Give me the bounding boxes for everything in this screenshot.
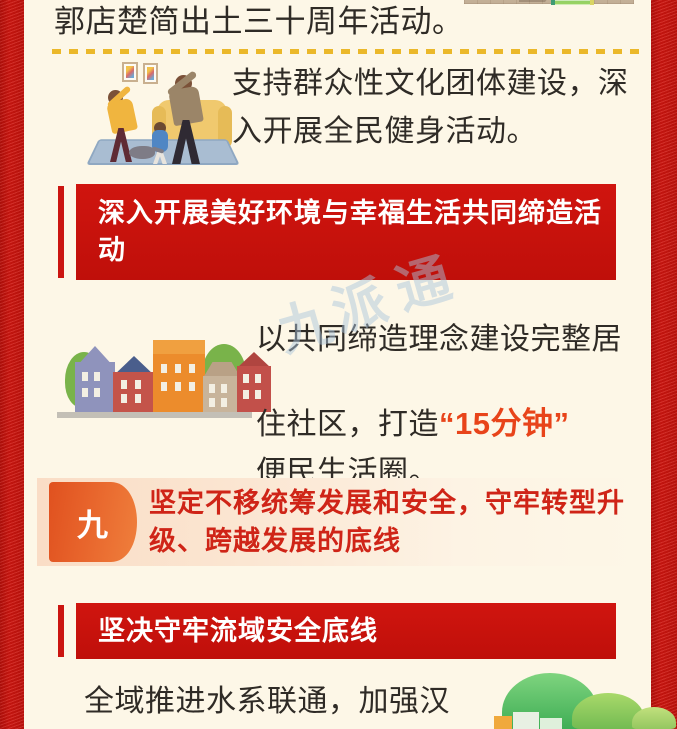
street-ground-icon [57, 412, 252, 418]
right-red-border [651, 0, 677, 729]
red-heading-banner-1: 深入开展美好环境与幸福生活共同缔造活动 [58, 184, 616, 280]
paragraph-community-line1: 以共同缔造理念建设完整居 [256, 316, 656, 364]
dotted-divider [52, 49, 641, 54]
green-stairs-icon [551, 0, 594, 5]
house-icon [153, 340, 205, 412]
section-nine-band: 九 坚定不移统筹发展和安全，守牢转型升级、跨越发展的底线 [37, 478, 638, 566]
community-line2-prefix: 住社区，打造 [256, 408, 439, 441]
left-red-border [0, 0, 24, 729]
picture-frame-icon [122, 62, 138, 82]
red-heading-banner-2: 坚决守牢流域安全底线 [58, 603, 616, 659]
house-icon [113, 356, 155, 412]
family-exercise-illustration [87, 58, 239, 166]
house-icon [203, 362, 241, 412]
paragraph-tail-text: 郭店楚简出土三十周年活动。 [54, 2, 464, 42]
townhouses-illustration [57, 330, 252, 420]
paragraph-mass-culture-fitness: 支持群众性文化团体建设，深入开展全民健身活动。 [232, 60, 647, 156]
green-mountains-illustration [494, 676, 674, 729]
building-icon [540, 718, 562, 729]
brick-wall-icon [464, 0, 634, 4]
banner-plate: 坚决守牢流域安全底线 [76, 603, 616, 659]
infographic-poster: 郭店楚简出土三十周年活动。 支持群众性文化团体建设，深入开展全民健身活动。 [0, 0, 677, 729]
building-icon [494, 716, 512, 729]
section-nine-title: 坚定不移统筹发展和安全，守牢转型升级、跨越发展的底线 [149, 484, 630, 560]
house-icon [75, 346, 115, 412]
stairs-left-rail-icon [551, 0, 555, 5]
banner-1-title: 深入开展美好环境与幸福生活共同缔造活动 [76, 195, 616, 269]
section-number-badge: 九 [49, 482, 137, 562]
highlight-15-minutes: “15分钟” [439, 406, 569, 441]
content-panel: 郭店楚简出土三十周年活动。 支持群众性文化团体建设，深入开展全民健身活动。 [24, 0, 651, 729]
section-number-label: 九 [77, 500, 109, 545]
paragraph-water-system: 全域推进水系联通，加强汉 [84, 679, 504, 725]
stairs-right-rail-icon [590, 0, 594, 5]
banner-plate: 深入开展美好环境与幸福生活共同缔造活动 [76, 184, 616, 280]
building-icon [513, 712, 539, 729]
picture-frame-icon [143, 63, 158, 84]
banner-accent-tick [58, 605, 64, 657]
mountain-icon [632, 707, 676, 729]
banner-accent-tick [58, 186, 64, 278]
cat-icon [129, 146, 155, 159]
banner-2-title: 坚决守牢流域安全底线 [76, 613, 378, 650]
